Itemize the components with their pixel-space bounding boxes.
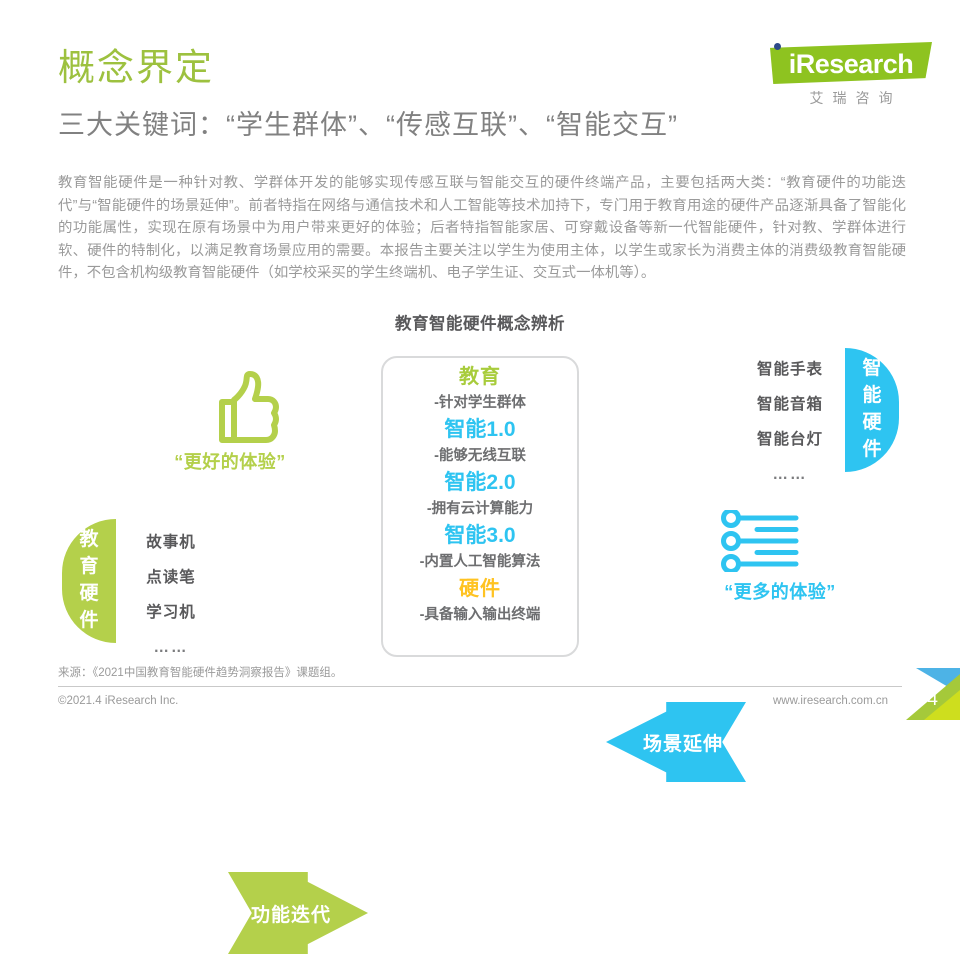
function-iteration-arrow: 功能迭代 xyxy=(228,872,368,954)
source-note: 来源：《2021中国教育智能硬件趋势洞察报告》课题组。 xyxy=(58,664,342,680)
center-panel-item-4: -内置人工智能算法 xyxy=(383,550,577,575)
list-item: 故事机 xyxy=(126,525,216,560)
page-title: 概念界定 xyxy=(58,48,214,89)
intro-paragraph: 教育智能硬件是一种针对教、学群体开发的能够实现传感互联与智能交互的硬件终端产品，… xyxy=(58,172,906,285)
center-panel-level-2: 智能2.0 xyxy=(383,469,577,497)
more-experience-caption: “更多的体验” xyxy=(680,578,880,604)
list-item: 学习机 xyxy=(126,595,216,630)
center-panel-level-3: 智能3.0 xyxy=(383,522,577,550)
feature-list-icon xyxy=(720,510,808,577)
logo-wordmark: iResearch xyxy=(770,49,932,80)
list-item: 智能台灯 xyxy=(740,422,840,457)
iresearch-logo: iResearch 艾瑞咨询 xyxy=(760,42,932,114)
smart-hardware-badge-char-4: 件 xyxy=(845,436,899,463)
function-iteration-arrow-label: 功能迭代 xyxy=(251,900,331,927)
list-item: 智能手表 xyxy=(740,352,840,387)
education-hardware-badge-char-2: 育 xyxy=(62,553,116,580)
concept-diagram: 教育 -针对学生群体 智能1.0 -能够无线互联 智能2.0 -拥有云计算能力 … xyxy=(0,330,960,660)
center-panel-item-5: -具备输入输出终端 xyxy=(383,603,577,628)
corner-decoration xyxy=(876,668,960,720)
education-hardware-badge-char-1: 教 xyxy=(62,526,116,553)
thumbs-up-icon xyxy=(198,370,280,451)
center-panel-item-2: -能够无线互联 xyxy=(383,444,577,469)
smart-hardware-badge-char-2: 能 xyxy=(845,382,899,409)
education-hardware-badge-char-3: 硬 xyxy=(62,580,116,607)
page-number: 4 xyxy=(927,689,938,711)
scene-extension-arrow: 场景延伸 xyxy=(606,702,746,782)
list-item: 点读笔 xyxy=(126,560,216,595)
list-item-ellipsis: …… xyxy=(126,630,216,665)
center-panel-hardware-heading: 硬件 xyxy=(383,575,577,603)
center-panel: 教育 -针对学生群体 智能1.0 -能够无线互联 智能2.0 -拥有云计算能力 … xyxy=(381,356,579,657)
better-experience-caption: “更好的体验” xyxy=(140,448,320,474)
smart-hardware-badge-char-3: 硬 xyxy=(845,409,899,436)
logo-chinese-name: 艾瑞咨询 xyxy=(770,88,932,108)
scene-extension-arrow-label: 场景延伸 xyxy=(643,729,723,756)
footer-divider xyxy=(58,686,902,687)
center-panel-level-1: 智能1.0 xyxy=(383,416,577,444)
smart-hardware-badge-char-1: 智 xyxy=(845,355,899,382)
copyright-note: ©2021.4 iResearch Inc. xyxy=(58,695,178,707)
center-panel-item-1: -针对学生群体 xyxy=(383,391,577,416)
list-item: 智能音箱 xyxy=(740,387,840,422)
education-hardware-item-list: 故事机 点读笔 学习机 …… xyxy=(126,525,216,665)
education-hardware-badge-char-4: 件 xyxy=(62,607,116,634)
center-panel-education-heading: 教育 xyxy=(383,363,577,391)
list-item-ellipsis: …… xyxy=(740,457,840,492)
website-url: www.iresearch.com.cn xyxy=(773,695,888,707)
page-subtitle: 三大关键词：“学生群体”、“传感互联”、“智能交互” xyxy=(58,111,678,141)
smart-hardware-item-list: 智能手表 智能音箱 智能台灯 …… xyxy=(740,352,840,492)
smart-hardware-badge: 智 能 硬 件 xyxy=(845,348,899,472)
center-panel-item-3: -拥有云计算能力 xyxy=(383,497,577,522)
education-hardware-badge: 教 育 硬 件 xyxy=(62,519,116,643)
